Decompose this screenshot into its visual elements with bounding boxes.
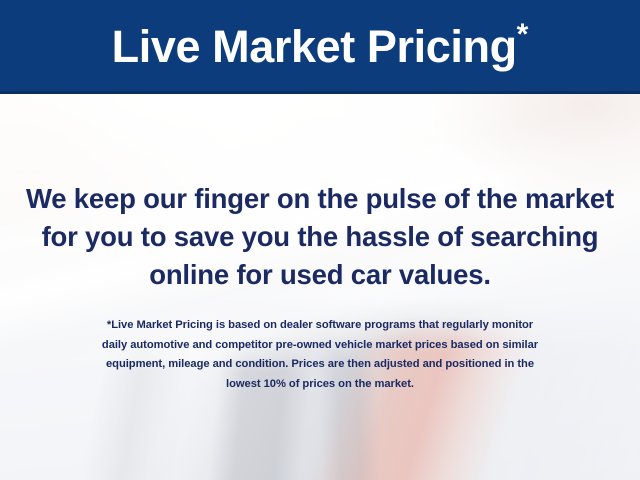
live-market-pricing-banner: Live Market Pricing* We keep our finger …: [0, 0, 640, 480]
disclaimer-line-3: equipment, mileage and condition. Prices…: [26, 355, 614, 375]
disclaimer-line-2: daily automotive and competitor pre-owne…: [26, 336, 614, 356]
headline-line-1: We keep our finger on the pulse of the: [26, 183, 518, 214]
content-area: We keep our finger on the pulse of the m…: [0, 91, 640, 480]
disclaimer-text: *Live Market Pricing is based on dealer …: [0, 316, 640, 394]
page-title-text: Live Market Pricing: [112, 21, 517, 72]
title-asterisk: *: [517, 18, 529, 51]
page-title: Live Market Pricing*: [112, 20, 529, 71]
disclaimer-line-4: lowest 10% of prices on the market.: [26, 375, 614, 395]
headline-text: We keep our finger on the pulse of the m…: [0, 180, 640, 294]
disclaimer-line-1: *Live Market Pricing is based on dealer …: [26, 316, 614, 336]
header-band: Live Market Pricing*: [0, 0, 640, 94]
